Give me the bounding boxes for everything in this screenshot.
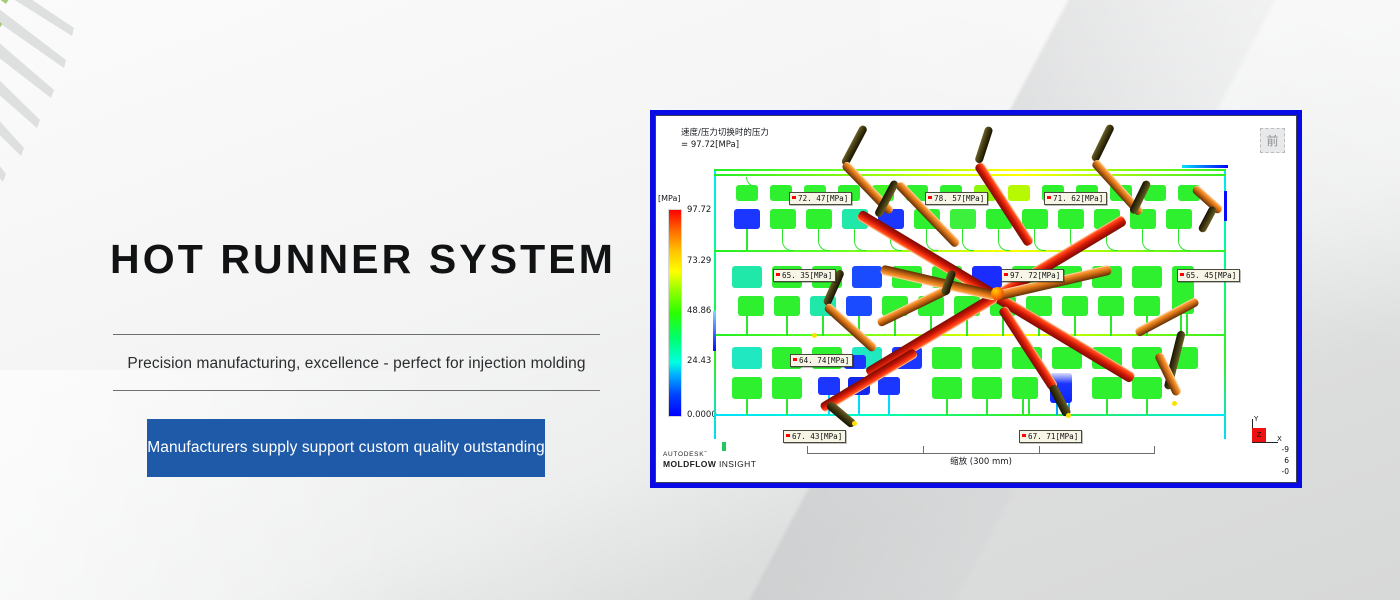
gate-drop — [854, 229, 866, 251]
cavity-part — [972, 377, 1002, 399]
mold-layout-graphic — [696, 151, 1296, 461]
text-column: HOT RUNNER SYSTEM Precision manufacturin… — [0, 0, 640, 600]
pressure-probe-label[interactable]: 67. 43[MPa] — [783, 430, 846, 443]
cavity-part — [1058, 209, 1084, 229]
cavity-part — [932, 347, 962, 369]
pressure-probe-label[interactable]: 78. 57[MPa] — [925, 192, 988, 205]
simulation-viewport[interactable]: 速度/压力切换时的压力 = 97.72[MPa] 前 [MPa] 97.72 7… — [655, 115, 1297, 483]
colorbar-unit-label: [MPa] — [658, 194, 681, 203]
gate-drop — [858, 395, 860, 415]
scale-bar-line — [807, 453, 1155, 454]
gate-drop — [1106, 399, 1108, 415]
gate-drop — [998, 229, 1010, 251]
manifold-rail-2 — [714, 174, 1226, 176]
simulation-title: 速度/压力切换时的压力 = 97.72[MPa] — [681, 127, 769, 152]
gate-drop — [1034, 229, 1046, 251]
cta-button[interactable]: Manufacturers supply support custom qual… — [147, 419, 545, 477]
gate-drop — [1022, 399, 1024, 415]
front-view-button[interactable]: 前 — [1260, 128, 1285, 153]
gate-drop — [1146, 399, 1148, 415]
gate-drop — [962, 229, 974, 251]
cavity-part — [846, 296, 872, 316]
cavity-part — [1134, 296, 1160, 316]
subtitle: Precision manufacturing, excellence - pe… — [113, 355, 600, 373]
flow-front-marker — [1224, 191, 1227, 221]
gate-drop — [1028, 399, 1030, 415]
feed-rail-left — [714, 169, 716, 439]
gate-drop — [786, 316, 788, 336]
scale-bar-label: 缩放 (300 mm) — [807, 455, 1155, 467]
cavity-part — [972, 347, 1002, 369]
gate-drop — [926, 229, 938, 251]
axis-x-line — [1252, 442, 1278, 443]
autodesk-wordmark: AUTODESK˝ — [663, 451, 756, 459]
pressure-probe-label[interactable]: 65. 35[MPa] — [773, 269, 836, 282]
axis-triad: Y X Z -9 6 -0 — [1246, 413, 1290, 479]
cavity-part — [1132, 377, 1162, 399]
cavity-part — [732, 266, 762, 288]
cavity-part — [732, 347, 762, 369]
cavity-part — [736, 185, 758, 201]
cavity-part — [1062, 296, 1088, 316]
axis-y-label: Y — [1254, 415, 1258, 423]
scale-tick — [807, 446, 808, 454]
nozzle-tip — [852, 421, 857, 426]
central-sprue-hub — [991, 287, 1004, 300]
gate-drop — [746, 399, 748, 415]
gate-drop — [888, 395, 890, 415]
axis-z-label: Z — [1252, 428, 1266, 442]
pressure-probe-label[interactable]: 67. 71[MPa] — [1019, 430, 1082, 443]
scale-tick — [1154, 446, 1155, 454]
pressure-probe-label[interactable]: 97. 72[MPa] — [1001, 269, 1064, 282]
cavity-part — [1098, 296, 1124, 316]
cavity-part — [932, 377, 962, 399]
gate-drop — [946, 399, 948, 415]
pressure-probe-label[interactable]: 65. 45[MPa] — [1177, 269, 1240, 282]
pressure-probe-label[interactable]: 71. 62[MPa] — [1044, 192, 1107, 205]
scale-tick — [923, 446, 924, 454]
manifold-rail-4 — [714, 334, 1226, 336]
simulation-panel-frame: 速度/压力切换时的压力 = 97.72[MPa] 前 [MPa] 97.72 7… — [650, 110, 1302, 488]
divider-top — [113, 334, 600, 335]
cavity-part — [1008, 185, 1030, 201]
manifold-rail-1 — [714, 169, 1226, 171]
colorbar-gradient — [668, 209, 682, 417]
cavity-part — [1132, 266, 1162, 288]
cavity-part — [1166, 209, 1192, 229]
flow-front-marker — [713, 311, 716, 351]
nozzle-tip — [1066, 413, 1071, 418]
gate-drop — [782, 229, 794, 251]
gate-drop — [746, 229, 748, 251]
gate-drop — [818, 229, 830, 251]
cavity-part — [772, 377, 802, 399]
gate-drop — [986, 399, 988, 415]
autodesk-moldflow-logo: AUTODESK˝ MOLDFLOW INSIGHT — [663, 451, 756, 470]
promo-banner: HOT RUNNER SYSTEM Precision manufacturin… — [0, 0, 1400, 600]
cavity-part — [878, 377, 900, 395]
nozzle-tip — [1172, 401, 1177, 406]
pressure-probe-label[interactable]: 64. 74[MPa] — [790, 354, 853, 367]
axis-readout-0: -9 — [1282, 445, 1289, 456]
cavity-part — [950, 209, 976, 229]
cavity-part — [806, 209, 832, 229]
gate-drop — [1142, 229, 1154, 251]
runner-segment — [974, 126, 993, 165]
gate-drop — [1186, 314, 1188, 336]
insight-text: INSIGHT — [716, 459, 756, 469]
autodesk-logo-mark — [722, 442, 726, 451]
scale-bar: 缩放 (300 mm) — [807, 446, 1155, 468]
pressure-probe-label[interactable]: 72. 47[MPa] — [789, 192, 852, 205]
scale-tick — [1039, 446, 1040, 454]
page-title: HOT RUNNER SYSTEM — [110, 236, 610, 283]
flow-front-marker — [1182, 165, 1228, 168]
axis-readout-2: -0 — [1282, 467, 1289, 478]
cavity-part — [1012, 377, 1038, 399]
axis-readout-1: 6 — [1282, 456, 1289, 467]
axis-x-label: X — [1277, 435, 1282, 443]
cavity-part — [770, 209, 796, 229]
simulation-title-line1: 速度/压力切换时的压力 — [681, 127, 769, 139]
runner-segment — [840, 124, 868, 167]
moldflow-wordmark: MOLDFLOW INSIGHT — [663, 459, 756, 470]
runner-segment — [1090, 123, 1115, 162]
gate-drop — [1110, 316, 1112, 336]
cavity-part — [732, 377, 762, 399]
nozzle-tip — [812, 333, 817, 338]
divider-bottom — [113, 390, 600, 391]
gate-drop — [822, 316, 824, 336]
gate-drop — [786, 399, 788, 415]
cavity-part — [1022, 209, 1048, 229]
cavity-part — [738, 296, 764, 316]
moldflow-text: MOLDFLOW — [663, 459, 716, 469]
gate-drop — [1074, 316, 1076, 336]
cavity-part — [774, 296, 800, 316]
runner-segment — [1197, 205, 1217, 233]
gate-drop — [1178, 229, 1190, 251]
simulation-title-line2: = 97.72[MPa] — [681, 139, 769, 151]
cavity-part — [734, 209, 760, 229]
axis-readout: -9 6 -0 — [1282, 445, 1289, 478]
manifold-rail-5 — [714, 414, 1226, 416]
cavity-part — [852, 266, 882, 288]
cavity-part — [1092, 377, 1122, 399]
gate-drop — [746, 316, 748, 336]
